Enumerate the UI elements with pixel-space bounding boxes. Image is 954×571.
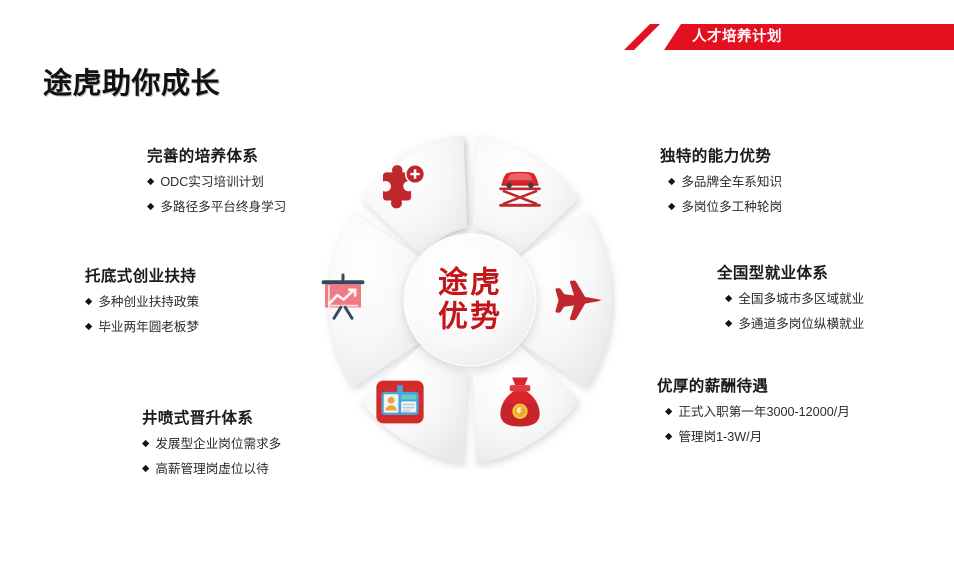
feature-bullet-text: 多通道多岗位纵横就业 [738, 317, 864, 333]
feature-block-mid-left: 托底式创业扶持 ◆ 多种创业扶持政策 ◆ 毕业两年圆老板梦 [85, 264, 199, 344]
feature-bullet: ◆ 全国多城市多区域就业 [725, 292, 864, 308]
feature-block-bottom-right: 优厚的薪酬待遇 ◆ 正式入职第一年3000-12000/月 ◆ 管理岗1-3W/… [657, 374, 850, 454]
feature-bullet: ◆ 发展型企业岗位需求多 [142, 437, 281, 453]
feature-bullet: ◆ 多通道多岗位纵横就业 [725, 317, 864, 333]
presentation-chart-icon [316, 271, 370, 325]
diamond-bullet-icon: ◆ [725, 317, 732, 331]
car-lift-icon [493, 159, 547, 213]
banner-arrow-shape [624, 24, 660, 50]
page-title: 途虎助你成长 [43, 60, 220, 102]
feature-bullet-text: 多品牌全车系知识 [681, 175, 782, 191]
feature-bullet: ◆ 多品牌全车系知识 [668, 175, 782, 191]
feature-bullet: ◆ 管理岗1-3W/月 [665, 430, 850, 446]
diamond-bullet-icon: ◆ [85, 295, 92, 309]
diamond-bullet-icon: ◆ [668, 175, 675, 189]
feature-title: 独特的能力优势 [660, 144, 782, 166]
feature-bullet-text: 高薪管理岗虚位以待 [155, 462, 268, 478]
feature-bullet-text: 多路径多平台终身学习 [160, 200, 286, 216]
diamond-bullet-icon: ◆ [725, 292, 732, 306]
diamond-bullet-icon: ◆ [147, 175, 154, 189]
feature-bullet-text: 全国多城市多区域就业 [738, 292, 864, 308]
diamond-bullet-icon: ◆ [665, 430, 672, 444]
feature-block-bottom-left: 井喷式晋升体系 ◆ 发展型企业岗位需求多 ◆ 高薪管理岗虚位以待 [142, 406, 281, 486]
feature-bullet-text: 正式入职第一年3000-12000/月 [678, 405, 849, 421]
feature-title: 托底式创业扶持 [85, 264, 199, 286]
diamond-bullet-icon: ◆ [665, 405, 672, 419]
puzzle-plus-icon [374, 160, 428, 214]
airplane-icon [551, 271, 605, 325]
diamond-bullet-icon: ◆ [85, 320, 92, 334]
feature-bullet: ◆ ODC实习培训计划 [147, 175, 286, 191]
feature-block-mid-right: 全国型就业体系 ◆ 全国多城市多区域就业 ◆ 多通道多岗位纵横就业 [717, 261, 864, 341]
feature-bullet-text: 管理岗1-3W/月 [678, 430, 762, 446]
feature-title: 全国型就业体系 [717, 261, 864, 283]
money-bag-icon [493, 375, 547, 429]
feature-bullet: ◆ 多岗位多工种轮岗 [668, 200, 782, 216]
diamond-bullet-icon: ◆ [142, 437, 149, 451]
banner-label: 人才培养计划 [692, 24, 782, 50]
slide-canvas: 人才培养计划 途虎助你成长 完善的培养体系 ◆ ODC实习培训计划 ◆ 多路径多… [0, 0, 954, 531]
id-badge-icon [373, 375, 427, 429]
feature-title: 完善的培养体系 [147, 144, 286, 166]
feature-bullet-text: 多岗位多工种轮岗 [681, 200, 782, 216]
feature-bullet: ◆ 多种创业扶持政策 [85, 295, 199, 311]
diamond-bullet-icon: ◆ [668, 200, 675, 214]
diamond-bullet-icon: ◆ [142, 462, 149, 476]
feature-bullet: ◆ 高薪管理岗虚位以待 [142, 462, 281, 478]
diamond-bullet-icon: ◆ [147, 200, 154, 214]
feature-bullet: ◆ 毕业两年圆老板梦 [85, 320, 199, 336]
feature-bullet-text: ODC实习培训计划 [160, 175, 264, 191]
feature-block-top-left: 完善的培养体系 ◆ ODC实习培训计划 ◆ 多路径多平台终身学习 [147, 144, 286, 224]
feature-title: 井喷式晋升体系 [142, 406, 281, 428]
feature-bullet: ◆ 正式入职第一年3000-12000/月 [665, 405, 850, 421]
feature-bullet-text: 毕业两年圆老板梦 [98, 320, 199, 336]
feature-block-top-right: 独特的能力优势 ◆ 多品牌全车系知识 ◆ 多岗位多工种轮岗 [660, 144, 782, 224]
header-banner: 人才培养计划 [624, 24, 954, 50]
advantage-wheel-diagram: 途虎 优势 [296, 131, 644, 469]
feature-bullet-text: 发展型企业岗位需求多 [155, 437, 281, 453]
feature-title: 优厚的薪酬待遇 [657, 374, 850, 396]
feature-bullet-text: 多种创业扶持政策 [98, 295, 199, 311]
feature-bullet: ◆ 多路径多平台终身学习 [147, 200, 286, 216]
